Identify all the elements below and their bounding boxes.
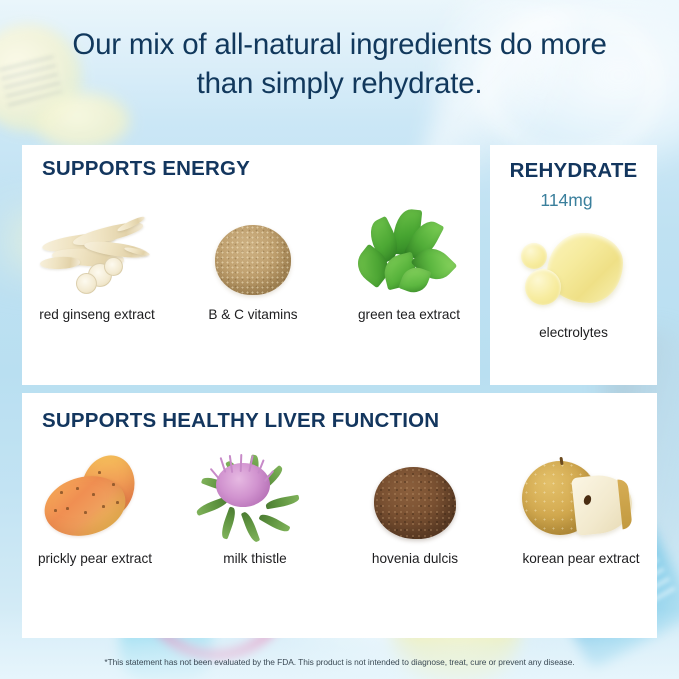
ingredient-row-liver: prickly pear extract (36, 449, 646, 566)
ingredient-milk-thistle: milk thistle (196, 449, 314, 566)
ingredient-label: korean pear extract (522, 551, 639, 566)
rehydrate-amount-value: 114mg (490, 190, 657, 211)
ingredient-label: electrolytes (539, 325, 608, 340)
ingredient-b-and-c-vitamins: B & C vitamins (194, 205, 312, 322)
vitamin-powder-icon (194, 205, 312, 301)
ingredient-row-rehydrate: electrolytes (490, 223, 657, 340)
card-rehydrate: REHYDRATE 114mg electrolytes (490, 145, 657, 385)
ingredient-korean-pear-extract: korean pear extract (516, 449, 646, 566)
green-tea-leaves-icon (350, 205, 468, 301)
ingredient-label: hovenia dulcis (372, 551, 458, 566)
ingredient-prickly-pear-extract: prickly pear extract (36, 449, 154, 566)
ingredient-row-energy: red ginseng extract B & C vitamins green… (38, 205, 468, 322)
page-headline: Our mix of all-natural ingredients do mo… (0, 26, 679, 104)
fda-disclaimer: *This statement has not been evaluated b… (0, 657, 679, 667)
ingredient-green-tea-extract: green tea extract (350, 205, 468, 322)
ingredient-label: red ginseng extract (39, 307, 155, 322)
electrolyte-droplets-icon (509, 223, 639, 315)
ingredient-label: prickly pear extract (38, 551, 152, 566)
ingredient-red-ginseng-extract: red ginseng extract (38, 205, 156, 322)
ingredient-electrolytes: electrolytes (509, 223, 639, 340)
ingredient-label: milk thistle (223, 551, 286, 566)
ginseng-root-icon (38, 205, 156, 301)
ingredient-label: B & C vitamins (208, 307, 297, 322)
card-supports-energy: SUPPORTS ENERGY red ginseng extract (22, 145, 480, 385)
ingredient-hovenia-dulcis: hovenia dulcis (356, 449, 474, 566)
card-supports-healthy-liver-function: SUPPORTS HEALTHY LIVER FUNCTION prickly … (22, 393, 657, 638)
card-title-rehydrate: REHYDRATE (490, 159, 657, 183)
card-title-supports-healthy-liver-function: SUPPORTS HEALTHY LIVER FUNCTION (42, 409, 439, 433)
prickly-pear-icon (36, 449, 154, 545)
korean-pear-icon (516, 449, 646, 545)
milk-thistle-flower-icon (196, 449, 314, 545)
hovenia-powder-icon (356, 449, 474, 545)
card-title-supports-energy: SUPPORTS ENERGY (42, 157, 250, 181)
ingredient-label: green tea extract (358, 307, 460, 322)
